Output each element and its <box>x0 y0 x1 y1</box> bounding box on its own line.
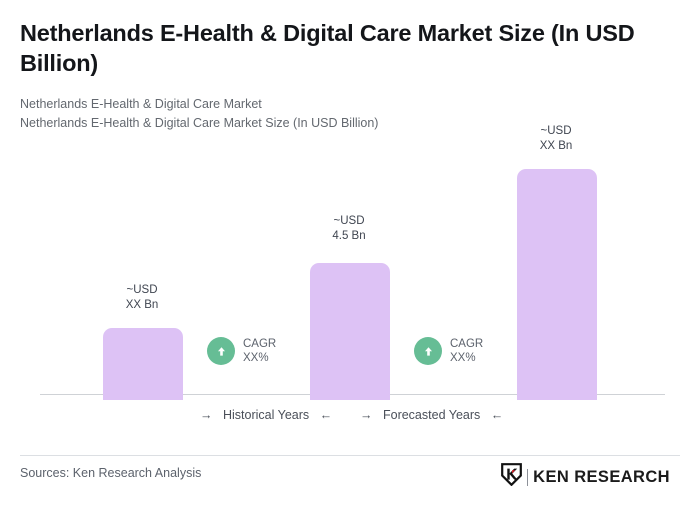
arrow-up-icon <box>207 337 235 365</box>
arrow-left-icon: ← <box>491 408 504 422</box>
chart-card: Netherlands E-Health & Digital Care Mark… <box>0 0 700 520</box>
cagr-badge: CAGR XX% <box>414 337 483 366</box>
bar-data-label-line1: ~USD <box>294 214 404 229</box>
bar-data-label-line2: XX Bn <box>501 139 611 154</box>
bar-data-label-line2: XX Bn <box>87 298 197 313</box>
arrow-right-icon: → <box>200 408 213 422</box>
cagr-text: CAGR XX% <box>243 337 276 366</box>
period-label-text: Historical Years <box>223 408 309 422</box>
arrow-up-icon <box>414 337 442 365</box>
cagr-label: CAGR <box>243 337 276 351</box>
period-label-row: → Historical Years ← → Forecasted Years … <box>40 408 665 428</box>
period-label-forecasted: → Forecasted Years ← <box>360 408 503 422</box>
cagr-badge: CAGR XX% <box>207 337 276 366</box>
sources-text: Sources: Ken Research Analysis <box>20 466 201 480</box>
brand-divider <box>527 469 528 486</box>
footer-divider <box>20 455 680 456</box>
arrow-left-icon: ← <box>320 408 333 422</box>
bar-historical[interactable] <box>103 328 183 400</box>
cagr-text: CAGR XX% <box>450 337 483 366</box>
brand-logo: KEN RESEARCH <box>501 463 670 491</box>
ken-research-logo-icon <box>501 463 522 491</box>
arrow-right-icon: → <box>360 408 373 422</box>
bar-data-label-line2: 4.5 Bn <box>294 229 404 244</box>
period-label-text: Forecasted Years <box>383 408 480 422</box>
cagr-value: XX% <box>450 351 483 365</box>
bar-forecasted[interactable] <box>517 169 597 400</box>
bar-data-label: ~USD 4.5 Bn <box>294 214 404 243</box>
plot-area: ~USD XX Bn CAGR XX% ~USD 4.5 Bn <box>0 0 700 400</box>
cagr-value: XX% <box>243 351 276 365</box>
bar-data-label: ~USD XX Bn <box>87 283 197 312</box>
period-label-historical: → Historical Years ← <box>200 408 332 422</box>
bar-data-label: ~USD XX Bn <box>501 124 611 153</box>
bar-data-label-line1: ~USD <box>87 283 197 298</box>
brand-name: KEN RESEARCH <box>533 468 670 487</box>
bar-data-label-line1: ~USD <box>501 124 611 139</box>
cagr-label: CAGR <box>450 337 483 351</box>
bar-current[interactable] <box>310 263 390 400</box>
